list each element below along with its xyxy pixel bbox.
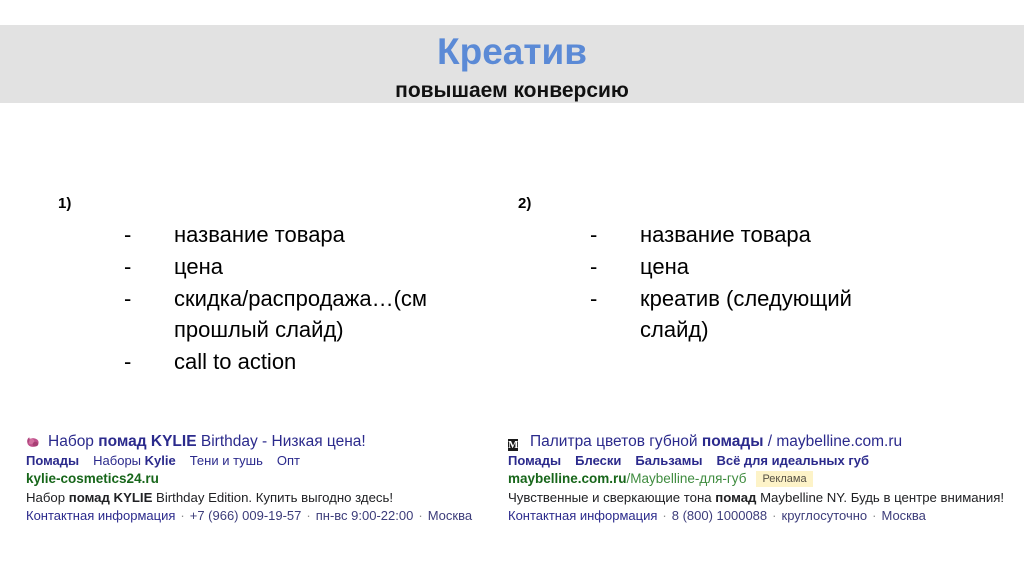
ad-contacts-phone: 8 (800) 1000088 <box>672 508 767 523</box>
sitelink-label-bold: Kylie <box>145 453 176 468</box>
bullet-dash: - <box>58 251 174 282</box>
ad-contacts-city: Москва <box>881 508 925 523</box>
ad-desc-part2: Birthday Edition. Купить выгодно здесь! <box>152 490 393 505</box>
ad-sitelinks: ПомадыНаборы KylieТени и тушьОпт <box>26 452 506 469</box>
sitelink-label: Наборы <box>93 453 144 468</box>
list-item: - креатив (следующий слайд) <box>518 283 988 345</box>
bullet-column-2: 2) - название товара - цена - креатив (с… <box>518 196 988 346</box>
bullet-dash: - <box>58 283 174 314</box>
ad-result-kylie: Набор помад KYLIE Birthday - Низкая цена… <box>26 433 506 525</box>
ad-contacts: Контактная информация·+7 (966) 009-19-57… <box>26 507 506 525</box>
sitelink-teni-i-tush[interactable]: Тени и тушь <box>190 453 263 468</box>
ad-title-part1: Палитра цветов губной <box>530 433 702 450</box>
list-item: - цена <box>518 251 988 282</box>
sitelink-nabory-kylie[interactable]: Наборы Kylie <box>93 453 176 468</box>
list-item: - название товара <box>58 219 508 250</box>
bullet-text: креатив (следующий слайд) <box>640 283 988 345</box>
bullet-dash: - <box>58 219 174 250</box>
bullet-text: название товара <box>174 219 508 250</box>
ad-title-part2: Birthday - Низкая цена! <box>197 433 366 450</box>
bullet-column-1: 1) - название товара - цена - скидка/рас… <box>58 196 508 379</box>
ad-headline-row: Набор помад KYLIE Birthday - Низкая цена… <box>26 433 506 451</box>
list-item: - название товара <box>518 219 988 250</box>
ad-desc-bold: помад KYLIE <box>69 490 153 505</box>
ad-label-badge: Реклама <box>756 471 812 487</box>
contacts-separator: · <box>418 508 422 523</box>
ad-sitelinks: ПомадыБлескиБальзамыВсё для идеальных гу… <box>508 452 1008 469</box>
page-title: Креатив <box>0 33 1024 72</box>
bullet-text: цена <box>174 251 508 282</box>
ad-title-part2: / maybelline.com.ru <box>763 433 902 450</box>
slide-header-band: Креатив повышаем конверсию <box>0 25 1024 103</box>
ad-url-domain: kylie-cosmetics24.ru <box>26 471 159 486</box>
slide-root: Креатив повышаем конверсию 1) - название… <box>0 0 1024 574</box>
bullet-dash: - <box>518 283 640 314</box>
bullet-text: call to action <box>174 346 508 377</box>
ad-contacts-hours: пн-вс 9:00-22:00 <box>316 508 414 523</box>
ad-title-bold: помады <box>702 433 764 450</box>
maybelline-m-icon: M <box>508 435 523 450</box>
ad-headline-row: M Палитра цветов губной помады / maybell… <box>508 433 1008 451</box>
ad-title-bold: помад KYLIE <box>98 433 196 450</box>
column-number-1: 1) <box>58 196 508 213</box>
bullet-text: цена <box>640 251 988 282</box>
ad-desc-part2: Maybelline NY. Будь в центре внимания! <box>756 490 1004 505</box>
ad-contacts-hours: круглосуточно <box>782 508 868 523</box>
ad-description: Чувственные и сверкающие тона помад Mayb… <box>508 489 1008 507</box>
list-item: - call to action <box>58 346 508 377</box>
ad-url[interactable]: maybelline.com.ru/Maybelline-для-губРекл… <box>508 470 1008 488</box>
sitelink-pomady[interactable]: Помады <box>26 453 79 468</box>
bullet-dash: - <box>58 346 174 377</box>
sitelink-bleski[interactable]: Блески <box>575 453 621 468</box>
sitelink-vse-dlya-idealnyh-gub[interactable]: Всё для идеальных губ <box>716 453 869 468</box>
bullet-text: название товара <box>640 219 988 250</box>
ad-url-domain: maybelline.com.ru <box>508 471 627 486</box>
ad-contacts-label[interactable]: Контактная информация <box>26 508 175 523</box>
ad-desc-part1: Чувственные и сверкающие тона <box>508 490 715 505</box>
ad-title[interactable]: Набор помад KYLIE Birthday - Низкая цена… <box>48 433 366 451</box>
ad-url[interactable]: kylie-cosmetics24.ru <box>26 470 506 488</box>
contacts-separator: · <box>872 508 876 523</box>
ad-desc-bold: помад <box>715 490 756 505</box>
contacts-separator: · <box>662 508 666 523</box>
ad-desc-part1: Набор <box>26 490 69 505</box>
ad-description: Набор помад KYLIE Birthday Edition. Купи… <box>26 489 506 507</box>
contacts-separator: · <box>772 508 776 523</box>
bullet-text: скидка/распродажа…(см прошлый слайд) <box>174 283 508 345</box>
column-number-2: 2) <box>518 196 988 213</box>
sitelink-balzamy[interactable]: Бальзамы <box>635 453 702 468</box>
ad-contacts-phone: +7 (966) 009-19-57 <box>190 508 302 523</box>
bullet-dash: - <box>518 219 640 250</box>
ad-url-path: /Maybelline-для-губ <box>627 471 747 486</box>
ad-title-part1: Набор <box>48 433 98 450</box>
list-item: - цена <box>58 251 508 282</box>
bullet-list-1: - название товара - цена - скидка/распро… <box>58 219 508 378</box>
sitelink-opt[interactable]: Опт <box>277 453 300 468</box>
contacts-separator: · <box>306 508 310 523</box>
page-subtitle: повышаем конверсию <box>0 79 1024 102</box>
ad-contacts: Контактная информация·8 (800) 1000088·кр… <box>508 507 1008 525</box>
favicon-letter: M <box>508 439 518 451</box>
bullet-list-2: - название товара - цена - креатив (след… <box>518 219 988 346</box>
contacts-separator: · <box>180 508 184 523</box>
lipstick-icon <box>26 435 41 450</box>
ad-contacts-city: Москва <box>428 508 472 523</box>
bullet-dash: - <box>518 251 640 282</box>
list-item: - скидка/распродажа…(см прошлый слайд) <box>58 283 508 345</box>
ad-contacts-label[interactable]: Контактная информация <box>508 508 657 523</box>
ad-result-maybelline: M Палитра цветов губной помады / maybell… <box>508 433 1008 525</box>
sitelink-pomady[interactable]: Помады <box>508 453 561 468</box>
ad-title[interactable]: Палитра цветов губной помады / maybellin… <box>530 433 902 451</box>
